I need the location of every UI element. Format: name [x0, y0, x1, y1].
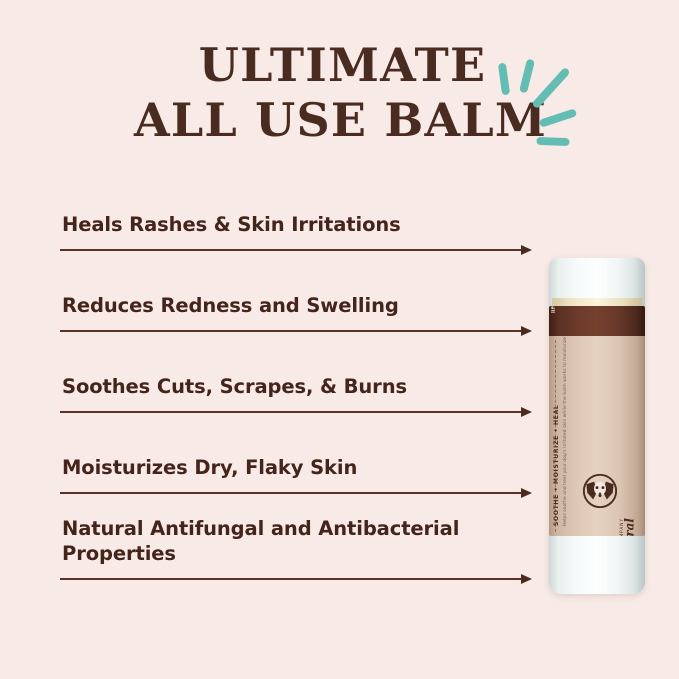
label-top-band: lift to open	[549, 306, 645, 336]
feature-item: Natural Antifungal and Antibacterial Pro…	[60, 516, 532, 584]
feature-item: Heals Rashes & Skin Irritations	[60, 212, 532, 255]
feature-text: Natural Antifungal and Antibacterial Pro…	[62, 516, 532, 566]
title-line-2: ALL USE BALM	[0, 93, 679, 148]
arrow-icon	[60, 326, 532, 336]
product-tagline: SOOTHE • MOISTURIZE • HEAL	[553, 405, 560, 526]
arrow-icon	[60, 245, 532, 255]
feature-item: Soothes Cuts, Scrapes, & Burns	[60, 374, 532, 417]
arrow-icon	[60, 488, 532, 498]
brand-logo: Natural DOG COMPANY	[581, 464, 635, 522]
arrow-icon	[60, 407, 532, 417]
arrow-head	[521, 488, 532, 498]
label-inner: Helps soothe and heal your dog's irritat…	[555, 340, 641, 532]
feature-text: Heals Rashes & Skin Irritations	[62, 212, 532, 237]
product-description: Helps soothe and heal your dog's irritat…	[563, 337, 568, 526]
lift-to-open-text: lift to open	[551, 306, 557, 313]
title-line-1: ULTIMATE	[0, 38, 679, 93]
arrow-shaft	[60, 492, 522, 494]
feature-item: Moisturizes Dry, Flaky Skin	[60, 455, 532, 498]
page-title: ULTIMATE ALL USE BALM	[0, 38, 679, 148]
arrow-icon	[60, 574, 532, 584]
feature-text: Moisturizes Dry, Flaky Skin	[62, 455, 532, 480]
brand-sub-text: DOG COMPANY	[619, 518, 624, 536]
product-image: lift to open Helps soothe and heal your …	[549, 258, 645, 594]
arrow-head	[521, 407, 532, 417]
arrow-head	[521, 245, 532, 255]
feature-text: Soothes Cuts, Scrapes, & Burns	[62, 374, 532, 399]
arrow-shaft	[60, 578, 522, 580]
feature-item: Reduces Redness and Swelling	[60, 293, 532, 336]
brand-script-text: Natural	[623, 518, 637, 536]
arrow-shaft	[60, 330, 522, 332]
dog-face-icon	[583, 474, 617, 508]
arrow-head	[521, 326, 532, 336]
arrow-shaft	[60, 249, 522, 251]
arrow-shaft	[60, 411, 522, 413]
arrow-head	[521, 574, 532, 584]
product-label: lift to open Helps soothe and heal your …	[549, 306, 645, 536]
feature-text: Reduces Redness and Swelling	[62, 293, 532, 318]
